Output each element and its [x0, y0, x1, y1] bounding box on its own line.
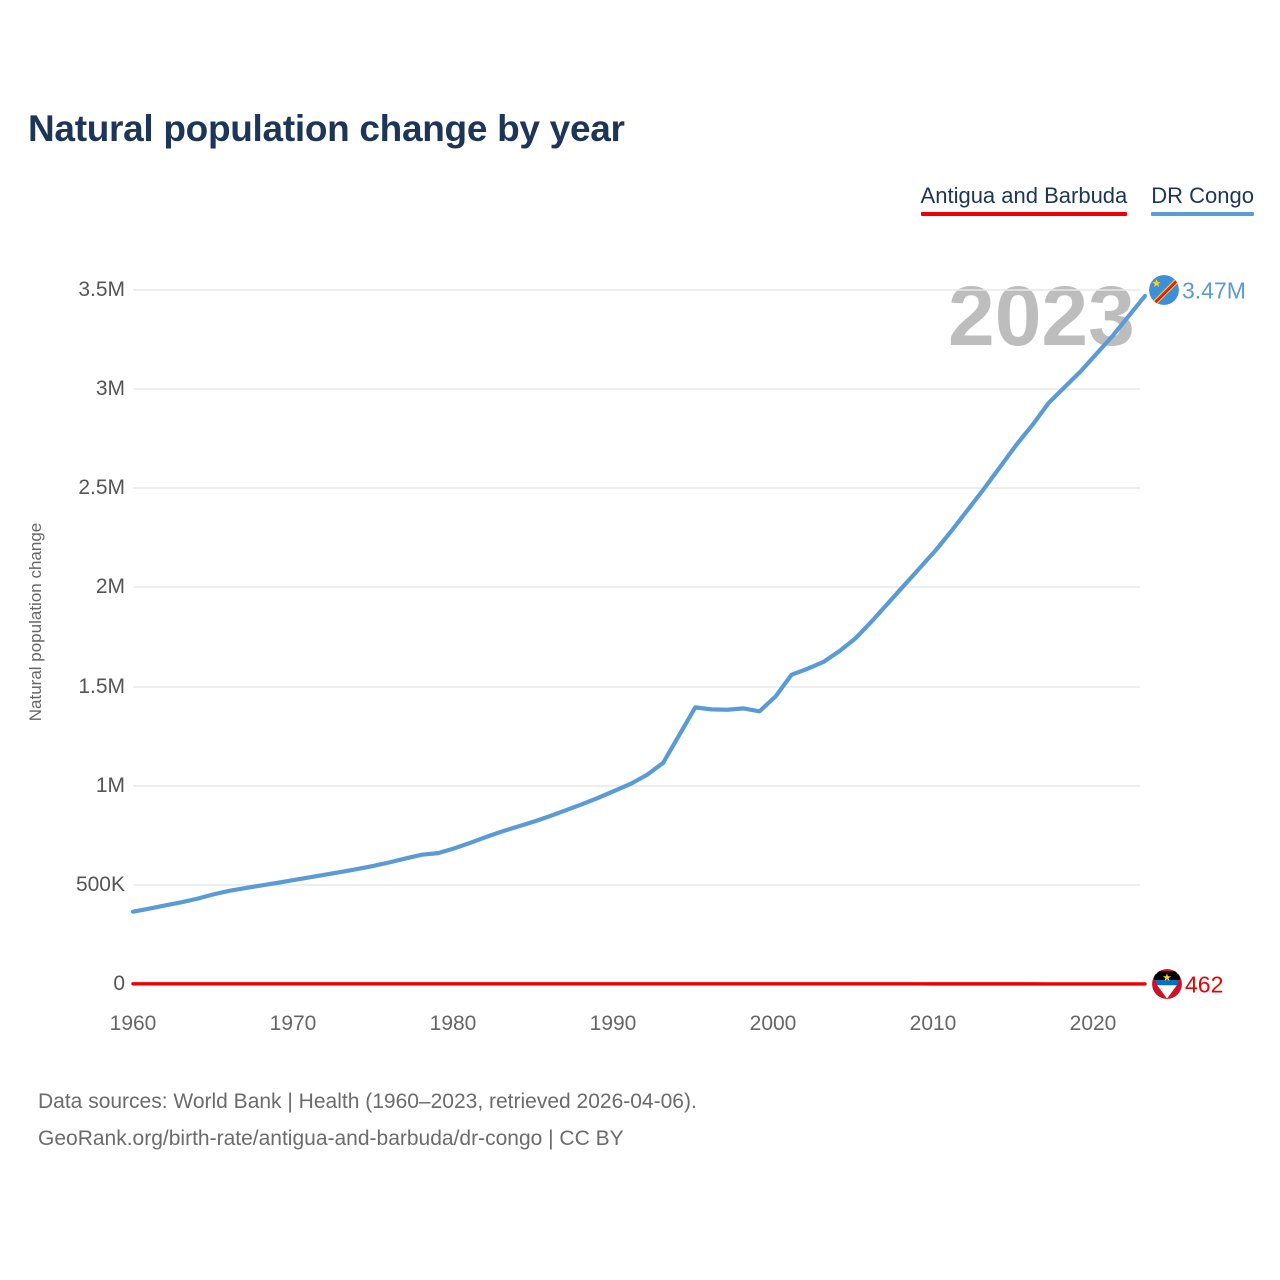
plot-area: Natural population change 3.5M 3M 2.5M 2…	[0, 0, 1280, 1280]
x-axis-tick-label: 1990	[590, 1012, 637, 1036]
footer-attribution: GeoRank.org/birth-rate/antigua-and-barbu…	[38, 1127, 624, 1151]
x-axis-tick-label: 1960	[110, 1012, 157, 1036]
antigua-and-barbuda-flag-icon	[1152, 969, 1182, 999]
x-axis-tick-label: 2020	[1070, 1012, 1117, 1036]
antigua-and-barbuda-end-value-label: 462	[1185, 972, 1223, 999]
gridlines	[133, 290, 1140, 885]
x-axis-tick-label: 2010	[910, 1012, 957, 1036]
dr-congo-flag-icon	[1149, 275, 1179, 305]
dr-congo-end-value-label: 3.47M	[1182, 278, 1246, 305]
footer-data-sources: Data sources: World Bank | Health (1960–…	[38, 1090, 697, 1114]
x-axis-tick-label: 2000	[750, 1012, 797, 1036]
x-axis-tick-label: 1970	[270, 1012, 317, 1036]
series-paths	[133, 296, 1145, 984]
chart-container: Natural population change by year Antigu…	[0, 0, 1280, 1280]
x-axis-tick-label: 1980	[430, 1012, 477, 1036]
chart-svg	[0, 0, 1280, 1280]
